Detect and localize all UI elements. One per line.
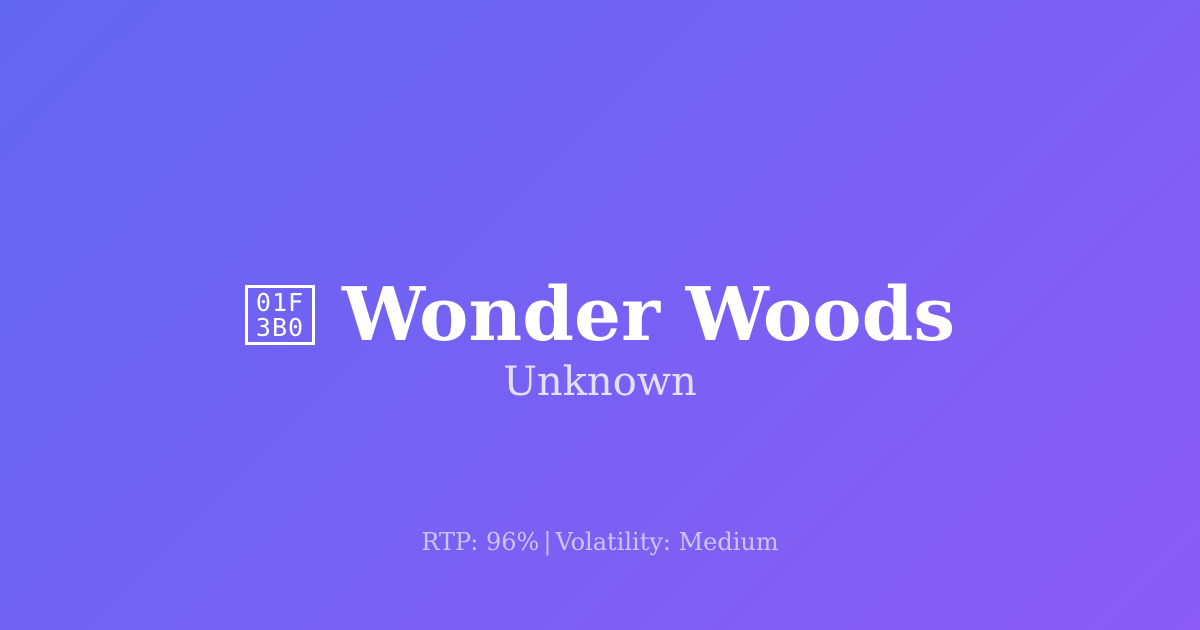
- game-stats: RTP: 96%|Volatility: Medium: [0, 528, 1200, 557]
- provider-label: Unknown: [0, 362, 1200, 402]
- tofu-codepoint-bottom: 3B0: [256, 315, 304, 340]
- volatility-stat: Volatility: Medium: [555, 528, 778, 556]
- og-preview-card: 01F 3B0 Wonder Woods Unknown RTP: 96%|Vo…: [0, 0, 1200, 630]
- stats-separator: |: [539, 528, 555, 556]
- rtp-stat: RTP: 96%: [421, 528, 539, 556]
- slot-machine-icon: 01F 3B0: [245, 285, 315, 345]
- page-title: Wonder Woods: [342, 278, 955, 352]
- tofu-codepoint-top: 01F: [256, 290, 304, 315]
